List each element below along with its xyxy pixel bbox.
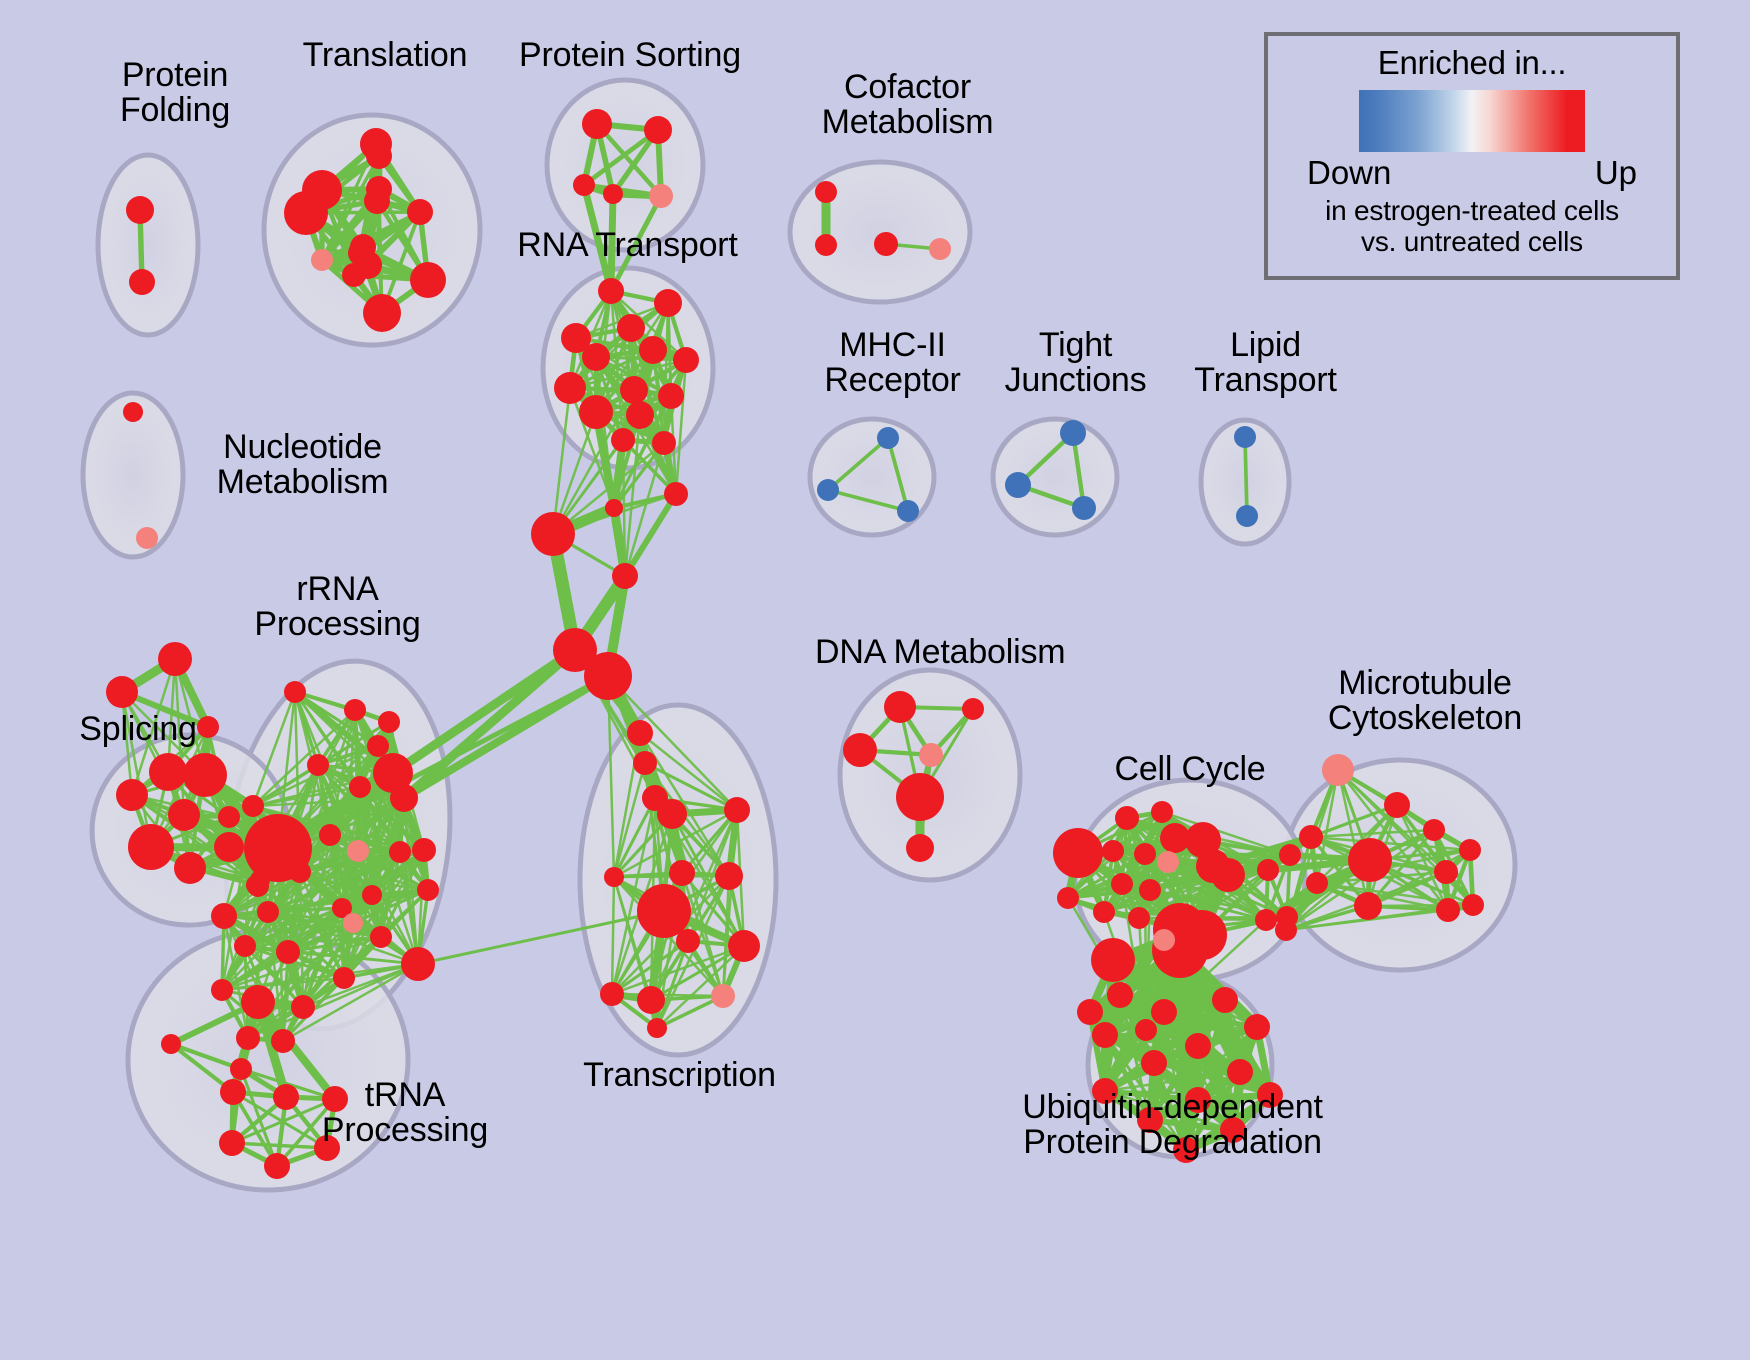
cluster-hull — [98, 155, 198, 335]
legend-color-gradient-bar — [1359, 90, 1585, 152]
network-node[interactable] — [617, 314, 645, 342]
network-node[interactable] — [230, 1058, 252, 1080]
network-node[interactable] — [669, 860, 695, 886]
network-node[interactable] — [929, 238, 951, 260]
network-node[interactable] — [241, 985, 275, 1019]
network-node[interactable] — [579, 395, 613, 429]
figure-canvas: Protein FoldingTranslationProtein Sortin… — [0, 0, 1750, 1360]
network-node[interactable] — [1244, 1014, 1270, 1040]
network-node[interactable] — [877, 427, 899, 449]
network-node[interactable] — [1348, 838, 1392, 882]
network-node[interactable] — [919, 743, 943, 767]
network-node[interactable] — [136, 527, 158, 549]
network-node[interactable] — [289, 861, 311, 883]
network-node[interactable] — [657, 799, 687, 829]
network-node[interactable] — [664, 482, 688, 506]
network-node[interactable] — [647, 1018, 667, 1038]
network-node[interactable] — [600, 982, 624, 1006]
network-node[interactable] — [620, 376, 648, 404]
network-node[interactable] — [1060, 420, 1086, 446]
network-node[interactable] — [1275, 919, 1297, 941]
network-node[interactable] — [1102, 840, 1124, 862]
network-node[interactable] — [276, 940, 300, 964]
network-node[interactable] — [389, 841, 411, 863]
network-node[interactable] — [815, 181, 837, 203]
network-node[interactable] — [582, 343, 610, 371]
legend-caption-line-1: in estrogen-treated cells — [1325, 196, 1619, 227]
network-node[interactable] — [673, 347, 699, 373]
network-node[interactable] — [1107, 982, 1133, 1008]
network-node[interactable] — [652, 431, 676, 455]
network-node[interactable] — [401, 947, 435, 981]
legend-title: Enriched in... — [1378, 44, 1566, 82]
network-node[interactable] — [370, 926, 392, 948]
network-node[interactable] — [1091, 938, 1135, 982]
network-node[interactable] — [843, 733, 877, 767]
network-node[interactable] — [412, 838, 436, 862]
network-node[interactable] — [106, 676, 138, 708]
network-node[interactable] — [658, 383, 684, 409]
network-node[interactable] — [1141, 1050, 1167, 1076]
network-node[interactable] — [1128, 907, 1150, 929]
network-node[interactable] — [531, 512, 575, 556]
network-node[interactable] — [644, 116, 672, 144]
network-node[interactable] — [573, 174, 595, 196]
network-node[interactable] — [1279, 844, 1301, 866]
network-node[interactable] — [612, 563, 638, 589]
network-node[interactable] — [817, 479, 839, 501]
network-node[interactable] — [626, 401, 654, 429]
network-node[interactable] — [333, 967, 355, 989]
network-node[interactable] — [1151, 999, 1177, 1025]
network-node[interactable] — [347, 840, 369, 862]
network-node[interactable] — [219, 1130, 245, 1156]
network-node[interactable] — [1212, 987, 1238, 1013]
network-node[interactable] — [319, 824, 341, 846]
network-node[interactable] — [257, 901, 279, 923]
network-node[interactable] — [1459, 839, 1481, 861]
network-node[interactable] — [174, 852, 206, 884]
cluster-label-nucleotide-metabolism: Nucleotide Metabolism — [195, 430, 410, 501]
network-node[interactable] — [307, 754, 329, 776]
network-node[interactable] — [1306, 872, 1328, 894]
cluster-label-protein-sorting: Protein Sorting — [505, 38, 755, 73]
network-node[interactable] — [128, 824, 174, 870]
network-node[interactable] — [1111, 873, 1133, 895]
network-node[interactable] — [715, 862, 743, 890]
network-node[interactable] — [1185, 1033, 1211, 1059]
network-node[interactable] — [1322, 754, 1354, 786]
network-node[interactable] — [366, 143, 392, 169]
network-node[interactable] — [183, 753, 227, 797]
network-node[interactable] — [649, 184, 673, 208]
network-node[interactable] — [218, 806, 240, 828]
network-node[interactable] — [1115, 806, 1139, 830]
cluster-label-protein-folding: Protein Folding — [80, 58, 270, 129]
network-node[interactable] — [1072, 496, 1096, 520]
network-node[interactable] — [311, 249, 333, 271]
network-node[interactable] — [897, 500, 919, 522]
network-node[interactable] — [417, 879, 439, 901]
network-node[interactable] — [273, 1084, 299, 1110]
network-node[interactable] — [264, 1153, 290, 1179]
cluster-label-ubiquitin-degradation: Ubiquitin-dependent Protein Degradation — [995, 1090, 1350, 1161]
network-node[interactable] — [116, 779, 148, 811]
network-node[interactable] — [1092, 1022, 1118, 1048]
network-node[interactable] — [654, 289, 682, 317]
network-node[interactable] — [1211, 858, 1245, 892]
network-node[interactable] — [874, 232, 898, 256]
cluster-label-cofactor-metabolism: Cofactor Metabolism — [800, 70, 1015, 141]
network-node[interactable] — [962, 698, 984, 720]
network-node[interactable] — [728, 930, 760, 962]
network-node[interactable] — [1053, 828, 1103, 878]
network-node[interactable] — [242, 795, 264, 817]
network-node[interactable] — [161, 1034, 181, 1054]
network-node[interactable] — [291, 995, 315, 1019]
network-node[interactable] — [1134, 843, 1156, 865]
legend-caption: in estrogen-treated cells vs. untreated … — [1325, 196, 1619, 258]
network-node[interactable] — [637, 986, 665, 1014]
network-node[interactable] — [284, 681, 306, 703]
network-node[interactable] — [234, 935, 256, 957]
network-node[interactable] — [605, 499, 623, 517]
cluster-label-lipid-transport: Lipid Transport — [1178, 328, 1353, 399]
network-node[interactable] — [633, 751, 657, 775]
network-node[interactable] — [1354, 892, 1382, 920]
network-node[interactable] — [1236, 505, 1258, 527]
network-node[interactable] — [1462, 894, 1484, 916]
network-node[interactable] — [1153, 929, 1175, 951]
network-node[interactable] — [1077, 999, 1103, 1025]
network-node[interactable] — [211, 903, 237, 929]
network-node[interactable] — [1005, 472, 1031, 498]
network-node[interactable] — [1093, 901, 1115, 923]
cluster-hull — [547, 80, 703, 250]
network-node[interactable] — [598, 278, 624, 304]
edge — [1245, 437, 1247, 516]
cluster-label-rna-transport: RNA Transport — [510, 228, 745, 263]
network-node[interactable] — [1157, 851, 1179, 873]
network-node[interactable] — [906, 834, 934, 862]
network-node[interactable] — [1151, 801, 1173, 823]
network-node[interactable] — [1299, 825, 1323, 849]
network-node[interactable] — [168, 799, 200, 831]
network-node[interactable] — [1257, 859, 1279, 881]
cluster-label-rrna-processing: rRNA Processing — [240, 572, 435, 643]
network-node[interactable] — [271, 1029, 295, 1053]
network-node[interactable] — [1139, 879, 1161, 901]
cluster-hull — [790, 162, 970, 302]
network-node[interactable] — [554, 372, 586, 404]
cluster-label-splicing: Splicing — [58, 712, 218, 747]
network-node[interactable] — [158, 642, 192, 676]
legend-panel: Enriched in... Down Up in estrogen-treat… — [1264, 32, 1680, 280]
network-node[interactable] — [211, 979, 233, 1001]
network-node[interactable] — [363, 294, 401, 332]
network-node[interactable] — [1234, 426, 1256, 448]
network-node[interactable] — [724, 797, 750, 823]
network-node[interactable] — [711, 984, 735, 1008]
network-node[interactable] — [884, 691, 916, 723]
cluster-label-translation: Translation — [285, 38, 485, 73]
network-node[interactable] — [284, 191, 328, 235]
network-node[interactable] — [410, 262, 446, 298]
network-node[interactable] — [149, 753, 187, 791]
network-node[interactable] — [582, 109, 612, 139]
network-node[interactable] — [123, 402, 143, 422]
network-node[interactable] — [611, 428, 635, 452]
network-node[interactable] — [604, 867, 624, 887]
cluster-label-transcription: Transcription — [572, 1058, 787, 1093]
network-node[interactable] — [367, 735, 389, 757]
network-node[interactable] — [1384, 792, 1410, 818]
cluster-label-tight-junctions: Tight Junctions — [988, 328, 1163, 399]
network-node[interactable] — [343, 913, 363, 933]
network-node[interactable] — [1423, 819, 1445, 841]
cluster-label-cell-cycle: Cell Cycle — [1105, 752, 1275, 787]
network-node[interactable] — [407, 199, 433, 225]
network-node[interactable] — [603, 184, 623, 204]
network-node[interactable] — [344, 699, 366, 721]
legend-high-label: Up — [1595, 154, 1637, 192]
network-node[interactable] — [637, 884, 691, 938]
network-node[interactable] — [373, 753, 413, 793]
network-node[interactable] — [1255, 909, 1277, 931]
cluster-label-microtubule-cytoskeleton: Microtubule Cytoskeleton — [1310, 666, 1540, 737]
network-node[interactable] — [815, 234, 837, 256]
network-node[interactable] — [639, 336, 667, 364]
network-node[interactable] — [349, 776, 371, 798]
legend-endpoint-labels: Down Up — [1307, 154, 1637, 192]
network-node[interactable] — [1434, 860, 1458, 884]
network-node[interactable] — [1135, 1019, 1157, 1041]
network-node[interactable] — [126, 196, 154, 224]
network-node[interactable] — [364, 188, 390, 214]
network-node[interactable] — [1057, 887, 1079, 909]
network-node[interactable] — [362, 885, 382, 905]
network-node[interactable] — [220, 1079, 246, 1105]
cluster-label-mhc-ii-receptor: MHC-II Receptor — [805, 328, 980, 399]
network-node[interactable] — [896, 773, 944, 821]
network-node[interactable] — [378, 711, 400, 733]
network-node[interactable] — [1227, 1059, 1253, 1085]
network-node[interactable] — [342, 263, 366, 287]
network-node[interactable] — [1436, 898, 1460, 922]
cluster-label-trna-processing: tRNA Processing — [310, 1078, 500, 1149]
legend-caption-line-2: vs. untreated cells — [1325, 227, 1619, 258]
cluster-label-dna-metabolism: DNA Metabolism — [815, 635, 1060, 670]
network-node[interactable] — [236, 1026, 260, 1050]
network-node[interactable] — [584, 652, 632, 700]
network-node[interactable] — [627, 720, 653, 746]
legend-low-label: Down — [1307, 154, 1391, 192]
network-node[interactable] — [129, 269, 155, 295]
network-node[interactable] — [214, 832, 244, 862]
